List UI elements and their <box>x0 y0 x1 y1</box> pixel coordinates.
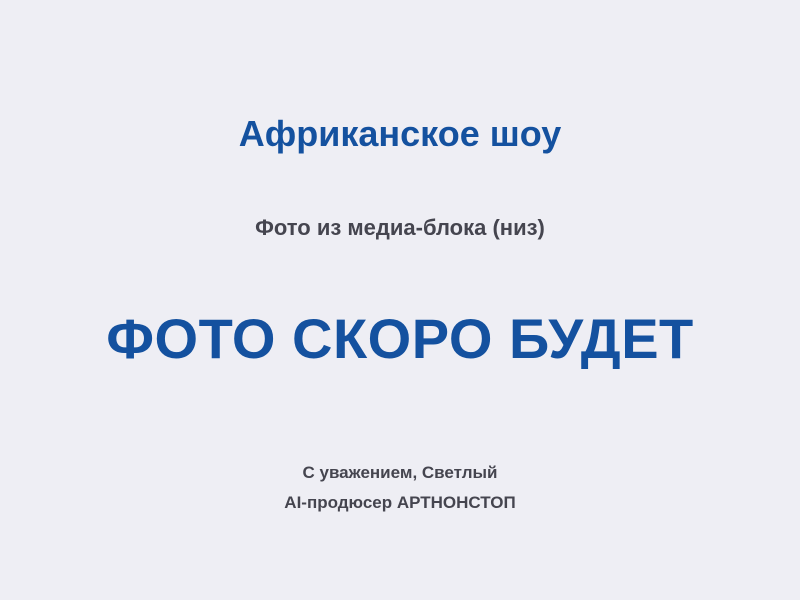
signature-line-role: AI-продюсер АРТНОНСТОП <box>0 488 800 518</box>
signature-block: С уважением, Светлый AI-продюсер АРТНОНС… <box>0 458 800 518</box>
signature-line-regards: С уважением, Светлый <box>0 458 800 488</box>
media-slot-caption: Фото из медиа-блока (низ) <box>0 214 800 242</box>
photo-placeholder-card: Африканское шоу Фото из медиа-блока (низ… <box>0 0 800 600</box>
show-title: Африканское шоу <box>0 112 800 156</box>
status-headline: ФОТО СКОРО БУДЕТ <box>0 306 800 372</box>
